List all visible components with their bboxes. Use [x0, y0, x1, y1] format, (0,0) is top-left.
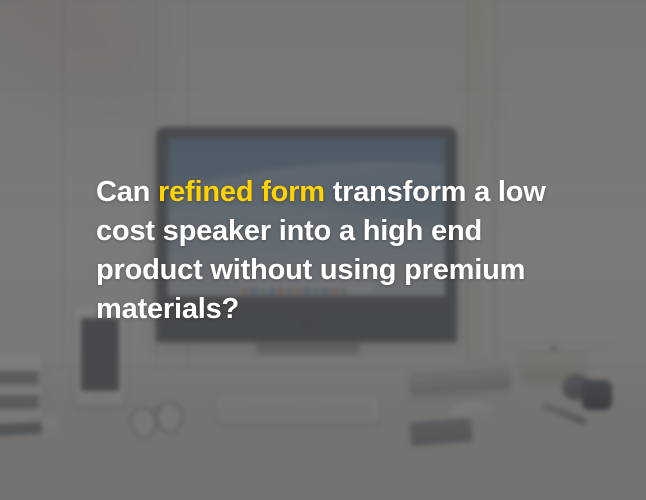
headline-text: Can refined form transform a low cost sp… — [96, 173, 596, 329]
headline-segment-1: Can — [96, 176, 158, 208]
headline-highlight: refined form — [158, 176, 325, 208]
slide-canvas:  — [0, 0, 646, 500]
